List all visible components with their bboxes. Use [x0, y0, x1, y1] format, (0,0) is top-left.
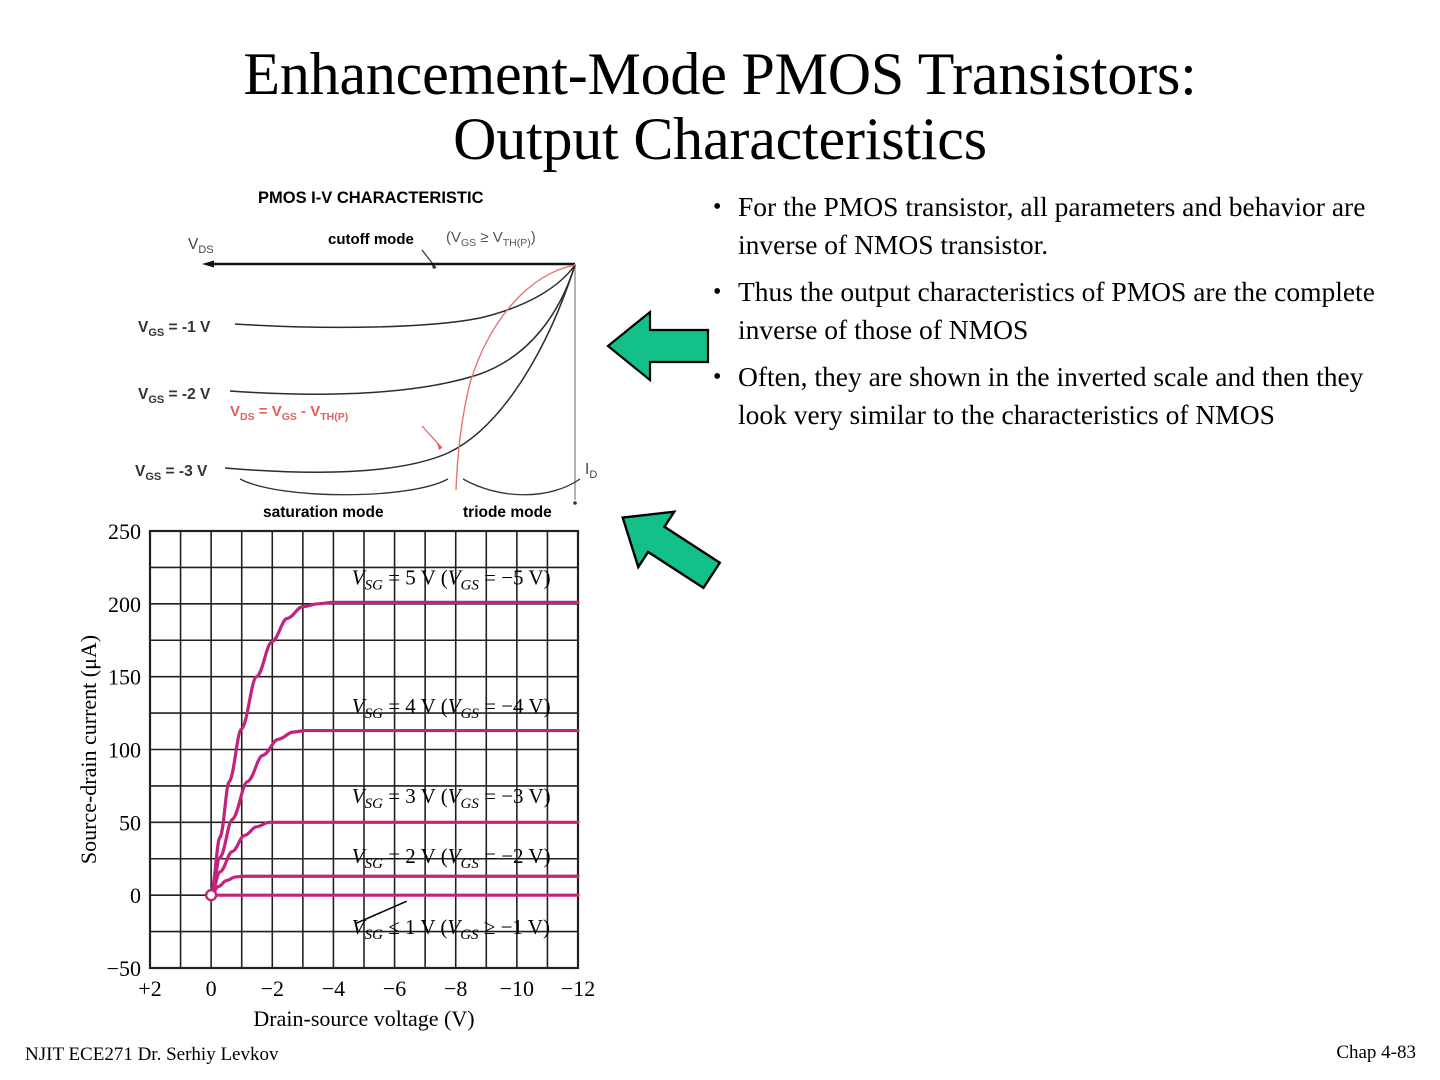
vgs-curve-label-2: VGS = -2 V	[138, 386, 211, 406]
pmos-iv-characteristic-figure: PMOS I-V CHARACTERISTIC cutoff mode (VGS…	[130, 178, 630, 523]
x-tick-label: −12	[561, 976, 595, 1001]
triode-bracket	[463, 479, 580, 495]
series-label-1: VSG = 5 V (VGS = −5 V)	[352, 566, 551, 594]
bullet-text: Thus the output characteristics of PMOS …	[738, 273, 1417, 349]
curve-vgs-2	[230, 265, 575, 394]
bullet-item: • Thus the output characteristics of PMO…	[705, 273, 1417, 349]
footer-course-info: NJIT ECE271 Dr. Serhiy Levkov	[25, 1044, 279, 1066]
saturation-bracket	[240, 479, 448, 495]
arrow-down-left	[608, 500, 728, 595]
series-label-3: VSG = 3 V (VGS = −3 V)	[352, 784, 551, 812]
bullet-item: • Often, they are shown in the inverted …	[705, 358, 1417, 434]
footer-chapter-number: Chap 4-83	[1336, 1042, 1416, 1064]
curve-vgs-1	[235, 265, 575, 327]
x-tick-label: +2	[138, 976, 161, 1001]
x-tick-label: −8	[444, 976, 467, 1001]
title-line-2: Output Characteristics	[0, 107, 1440, 172]
bullet-marker-icon: •	[705, 358, 738, 396]
pmos-output-characteristics-chart: +20−2−4−6−8−10−12−50050100150200250 VSG …	[68, 515, 628, 1030]
x-tick-label: −6	[383, 976, 406, 1001]
vgs-curve-label-3: VGS = -3 V	[135, 463, 208, 483]
arrow-left-svg	[604, 305, 714, 387]
vds-axis-label: VDS	[188, 236, 214, 256]
page-title: Enhancement-Mode PMOS Transistors: Outpu…	[0, 42, 1440, 172]
y-axis-title: Source-drain current (μA)	[76, 635, 101, 864]
vds-arrowhead	[202, 261, 214, 268]
id-arrowhead	[573, 501, 577, 505]
curve-vgs-3	[225, 265, 575, 472]
cutoff-condition-label: (VGS ≥ VTH(P))	[446, 229, 536, 249]
arrow-down-left-shape	[605, 490, 730, 603]
chart-gridlines	[150, 531, 578, 968]
pmos-iv-svg: PMOS I-V CHARACTERISTIC cutoff mode (VGS…	[130, 178, 630, 523]
origin-marker	[206, 890, 216, 900]
chart-series-labels: VSG = 5 V (VGS = −5 V)VSG = 4 V (VGS = −…	[352, 566, 551, 944]
saturation-boundary-curve	[456, 265, 575, 490]
bullet-text: For the PMOS transistor, all parameters …	[738, 188, 1417, 264]
y-tick-label: 150	[108, 665, 141, 690]
cutoff-mode-label: cutoff mode	[328, 231, 414, 248]
y-tick-label: −50	[107, 956, 141, 981]
bullet-list: • For the PMOS transistor, all parameter…	[705, 188, 1417, 443]
y-tick-label: 100	[108, 738, 141, 763]
red-boundary-annotation: VDS = VGS - VTH(P)	[230, 403, 348, 423]
bullet-item: • For the PMOS transistor, all parameter…	[705, 188, 1417, 264]
red-annotation-pointer	[422, 426, 442, 448]
arrow-down-left-svg	[608, 500, 728, 595]
series-label-4: VSG = 2 V (VGS = −2 V)	[352, 844, 551, 872]
bullet-marker-icon: •	[705, 273, 738, 311]
y-tick-label: 250	[108, 519, 141, 544]
x-tick-label: −2	[261, 976, 284, 1001]
arrow-left	[604, 305, 714, 387]
x-tick-label: −4	[322, 976, 345, 1001]
output-characteristics-svg: +20−2−4−6−8−10−12−50050100150200250 VSG …	[68, 515, 628, 1030]
arrow-left-shape	[608, 312, 708, 380]
id-axis-label: ID	[585, 461, 597, 481]
x-axis-title: Drain-source voltage (V)	[253, 1006, 474, 1031]
vgs-curve-label-1: VGS = -1 V	[138, 319, 211, 339]
series-label-5: VSG ≤ 1 V (VGS ≥ −1 V)	[352, 915, 550, 943]
bullet-marker-icon: •	[705, 188, 738, 226]
bullet-text: Often, they are shown in the inverted sc…	[738, 358, 1417, 434]
y-tick-label: 0	[130, 883, 141, 908]
y-tick-label: 200	[108, 592, 141, 617]
y-tick-label: 50	[119, 810, 141, 835]
x-tick-label: −10	[500, 976, 534, 1001]
title-line-1: Enhancement-Mode PMOS Transistors:	[0, 42, 1440, 107]
x-tick-label: 0	[206, 976, 217, 1001]
figure-title: PMOS I-V CHARACTERISTIC	[258, 189, 484, 207]
series-label-2: VSG = 4 V (VGS = −4 V)	[352, 694, 551, 722]
